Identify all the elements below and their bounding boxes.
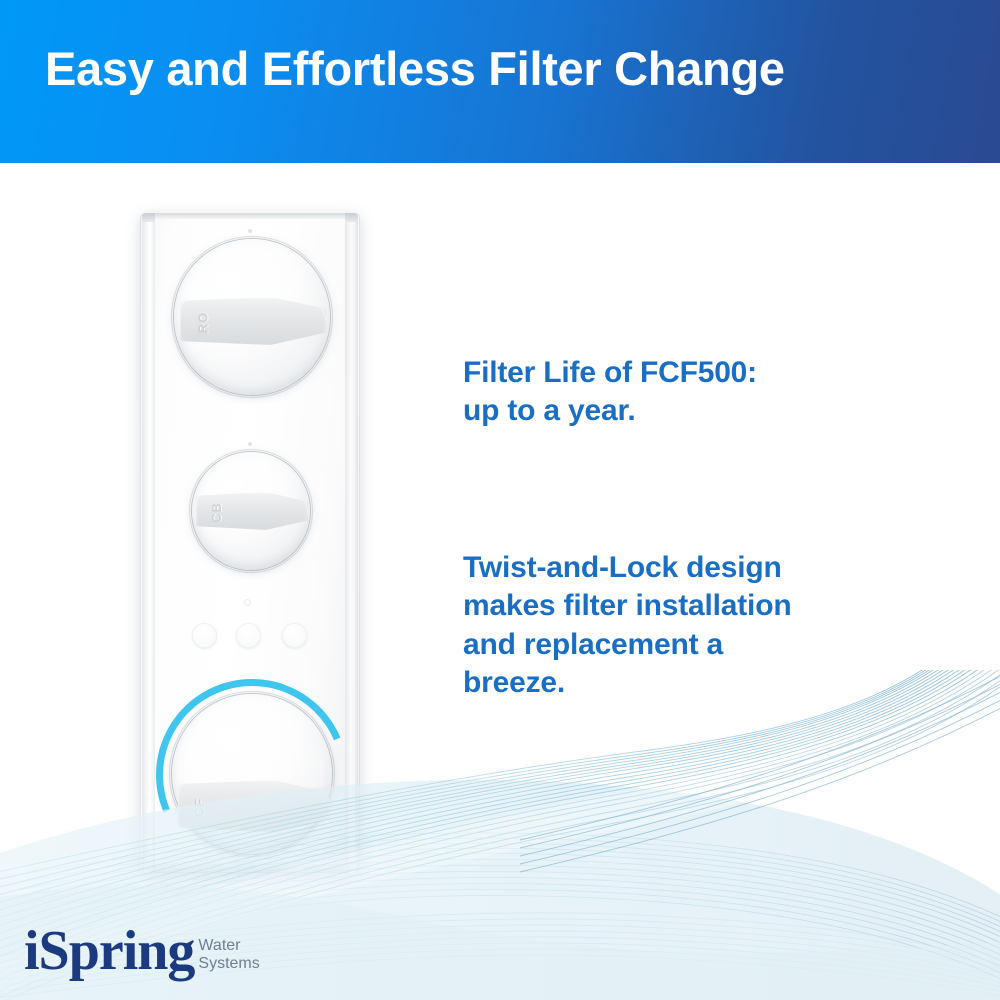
indicator-light-2 [236, 623, 261, 648]
copy-filter-life: Filter Life of FCF500: up to a year. [463, 354, 893, 431]
copy-twist-and-lock-line-2: makes filter installation [463, 587, 915, 625]
knob-ro-label: RO [195, 312, 210, 334]
filter-device-image: RO CB CF [140, 213, 360, 873]
knob-cf-ring [169, 691, 335, 857]
device-top-edge [150, 213, 350, 219]
device-cap-right [345, 213, 358, 222]
logo-tagline-line-2: Systems [198, 955, 259, 973]
knob-ro[interactable]: RO [174, 239, 330, 395]
promo-banner-page: Easy and Effortless Filter Change RO CB [0, 0, 1000, 1000]
copy-twist-and-lock-line-1: Twist-and-Lock design [463, 549, 915, 587]
page-title: Easy and Effortless Filter Change [45, 41, 785, 97]
logo-tagline-line-1: Water [198, 937, 259, 955]
header-banner: Easy and Effortless Filter Change [0, 0, 1000, 163]
copy-filter-life-line-2: up to a year. [463, 392, 893, 430]
copy-twist-and-lock-line-4: breeze. [463, 664, 915, 702]
logo-tagline: Water Systems [198, 937, 259, 973]
indicator-dot-icon [244, 599, 251, 606]
copy-filter-life-line-1: Filter Life of FCF500: [463, 354, 893, 392]
knob-cb-tick-icon [248, 442, 252, 446]
ispring-logo: iSpring Water Systems [24, 925, 260, 978]
knob-cb[interactable]: CB [192, 452, 310, 570]
device-cap-left [142, 213, 155, 222]
knob-ro-tick-icon [248, 229, 252, 233]
logo-wordmark: iSpring [24, 925, 194, 978]
copy-twist-and-lock: Twist-and-Lock design makes filter insta… [463, 549, 915, 703]
indicator-light-3 [282, 623, 307, 648]
device-rail-left [142, 213, 155, 873]
copy-twist-and-lock-line-3: and replacement a [463, 626, 915, 664]
knob-cf[interactable]: CF [172, 694, 332, 854]
knob-cb-label: CB [209, 502, 224, 523]
indicator-light-1 [192, 623, 217, 648]
knob-cf-label: CF [192, 798, 207, 817]
